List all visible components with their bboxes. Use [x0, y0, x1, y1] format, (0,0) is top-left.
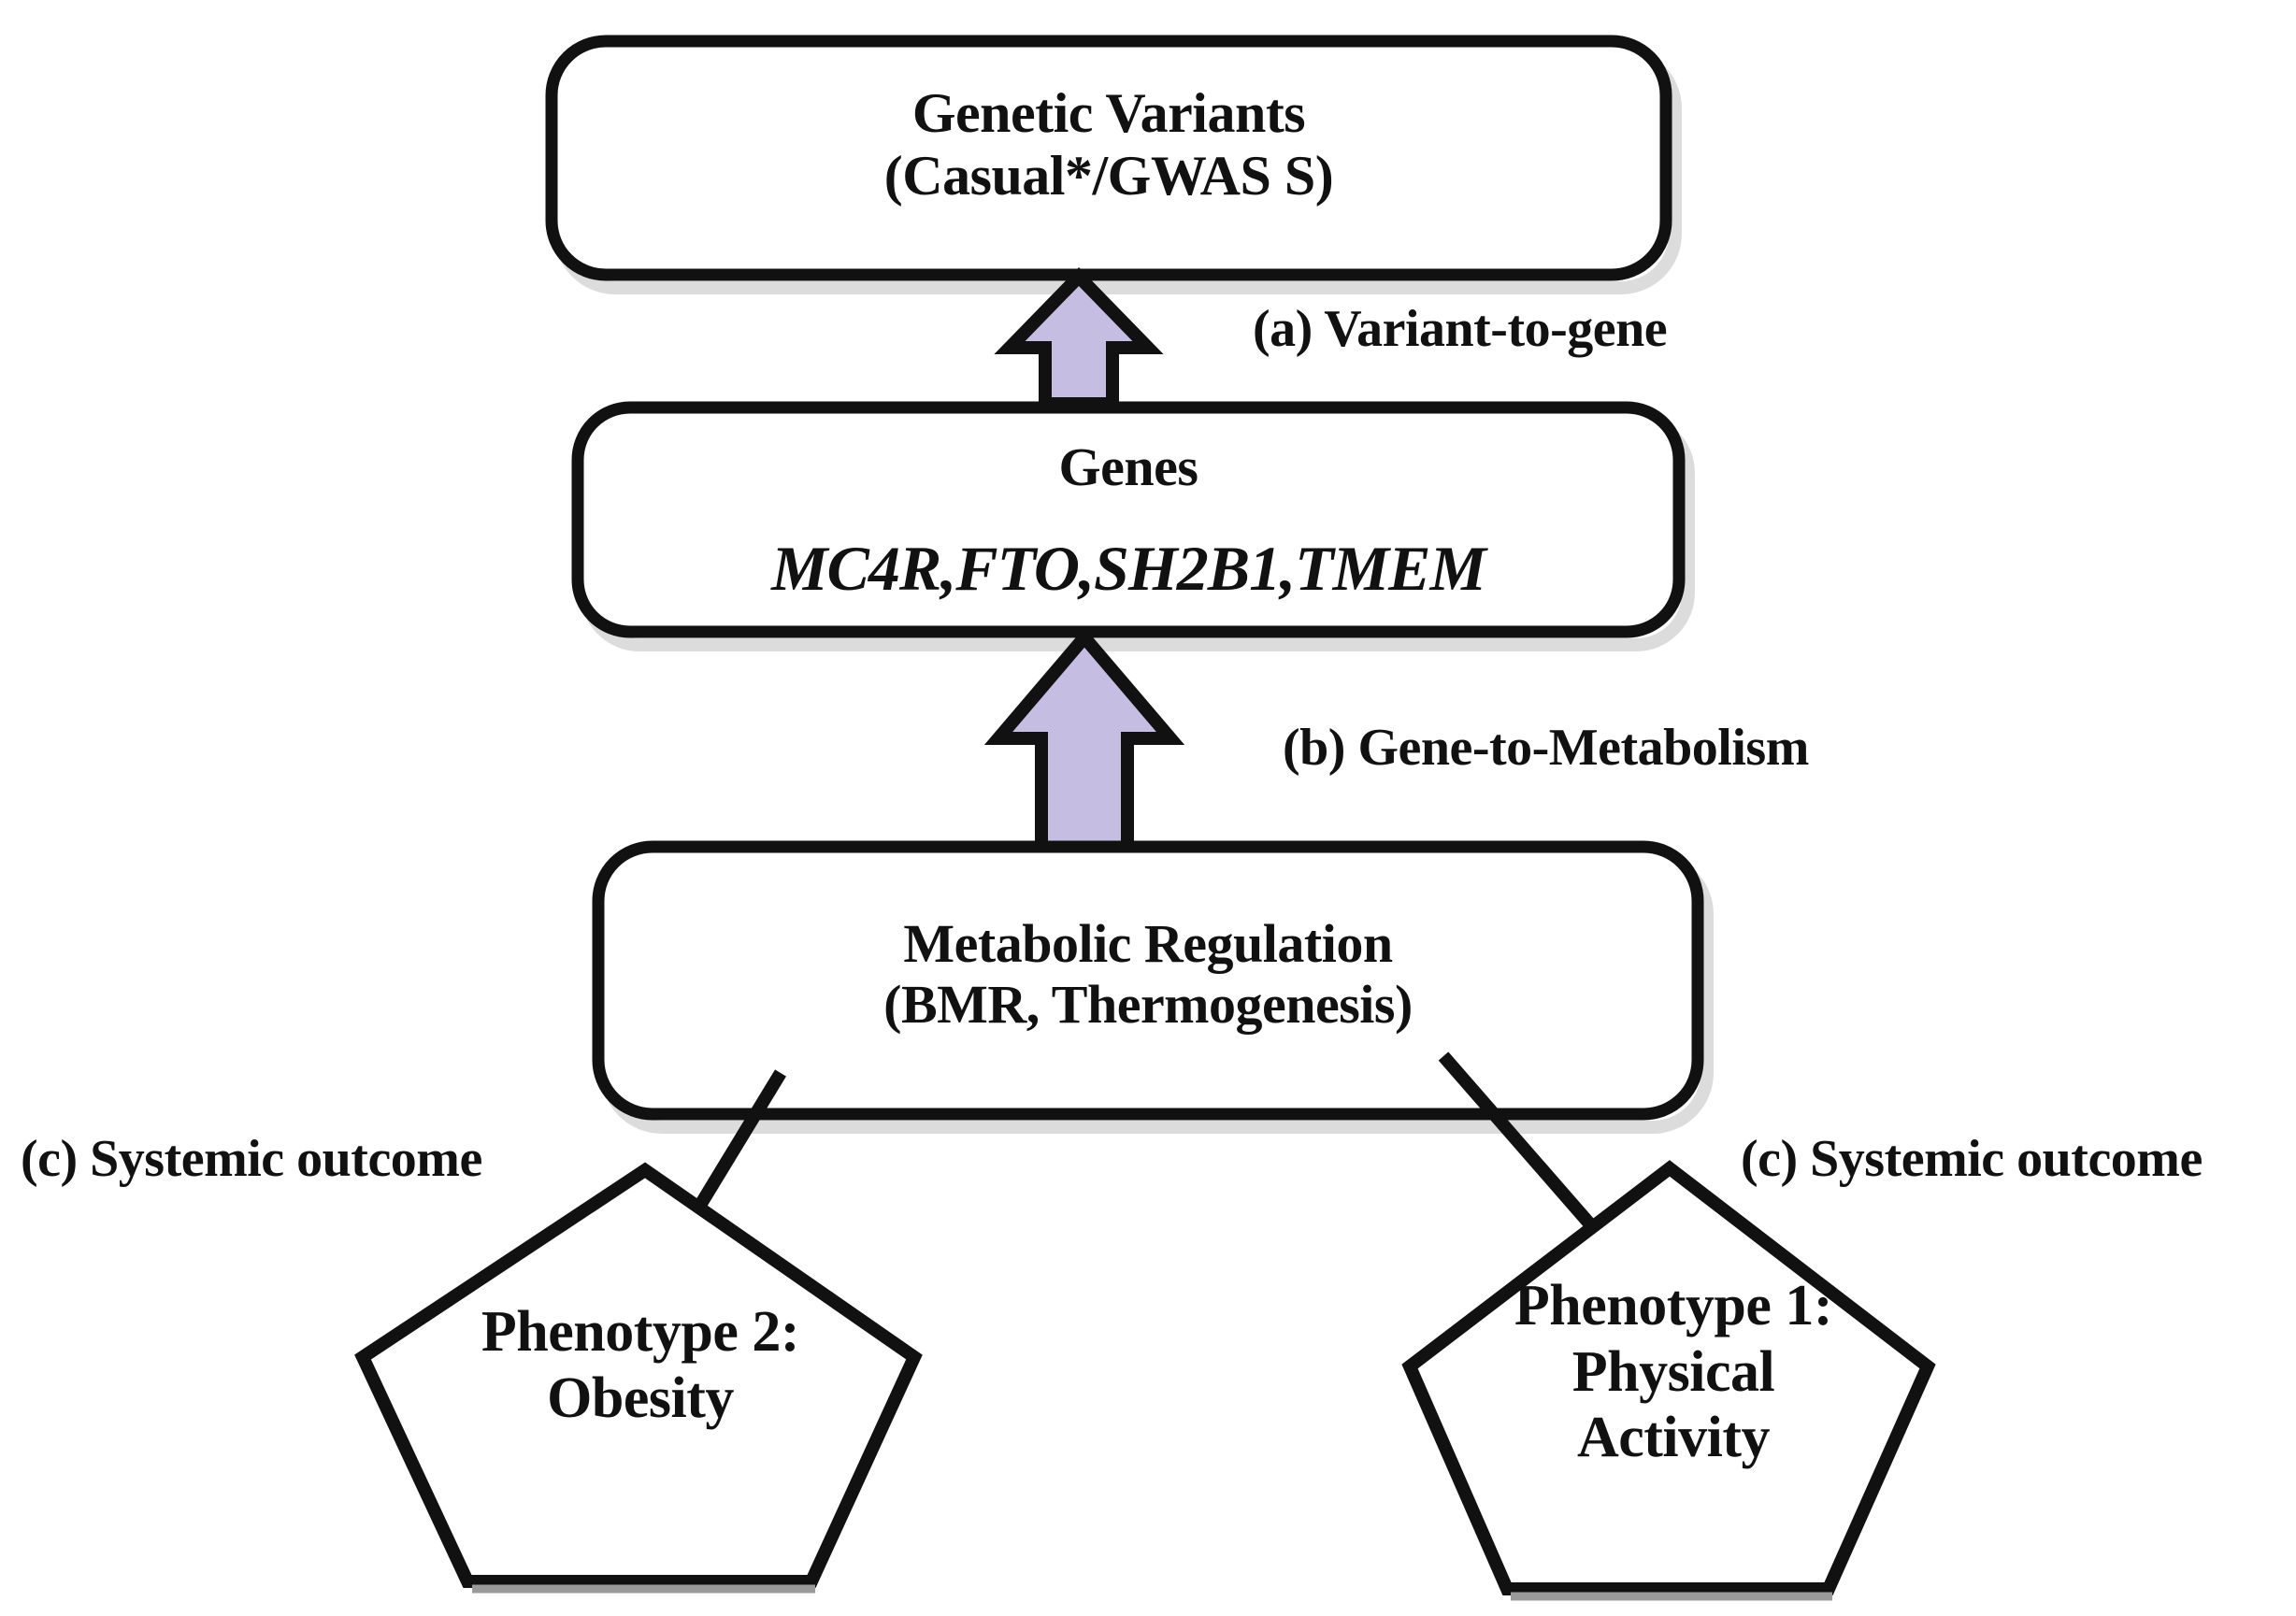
systemic-outcome-right-label: (c) Systemic outcome — [1741, 1129, 2203, 1189]
genetic-variants-box[interactable] — [552, 41, 1666, 275]
phenotype-2-pentagon[interactable] — [363, 1170, 914, 1581]
metabolic-regulation-box[interactable] — [598, 847, 1698, 1114]
diagram-vector-layer — [0, 0, 2296, 1616]
systemic-outcome-left-label: (c) Systemic outcome — [21, 1129, 482, 1189]
variant-to-gene-arrow-icon — [1010, 277, 1148, 404]
phenotype-1-pentagon[interactable] — [1410, 1168, 1928, 1589]
genes-box[interactable] — [578, 408, 1679, 632]
diagram-canvas: Genetic Variants(Casual*/GWAS S) Genes M… — [0, 0, 2296, 1616]
gene-to-metabolism-label: (b) Gene-to-Metabolism — [1283, 718, 1809, 778]
gene-to-metabolism-arrow-icon — [998, 637, 1170, 849]
variant-to-gene-label: (a) Variant-to-gene — [1253, 299, 1667, 359]
